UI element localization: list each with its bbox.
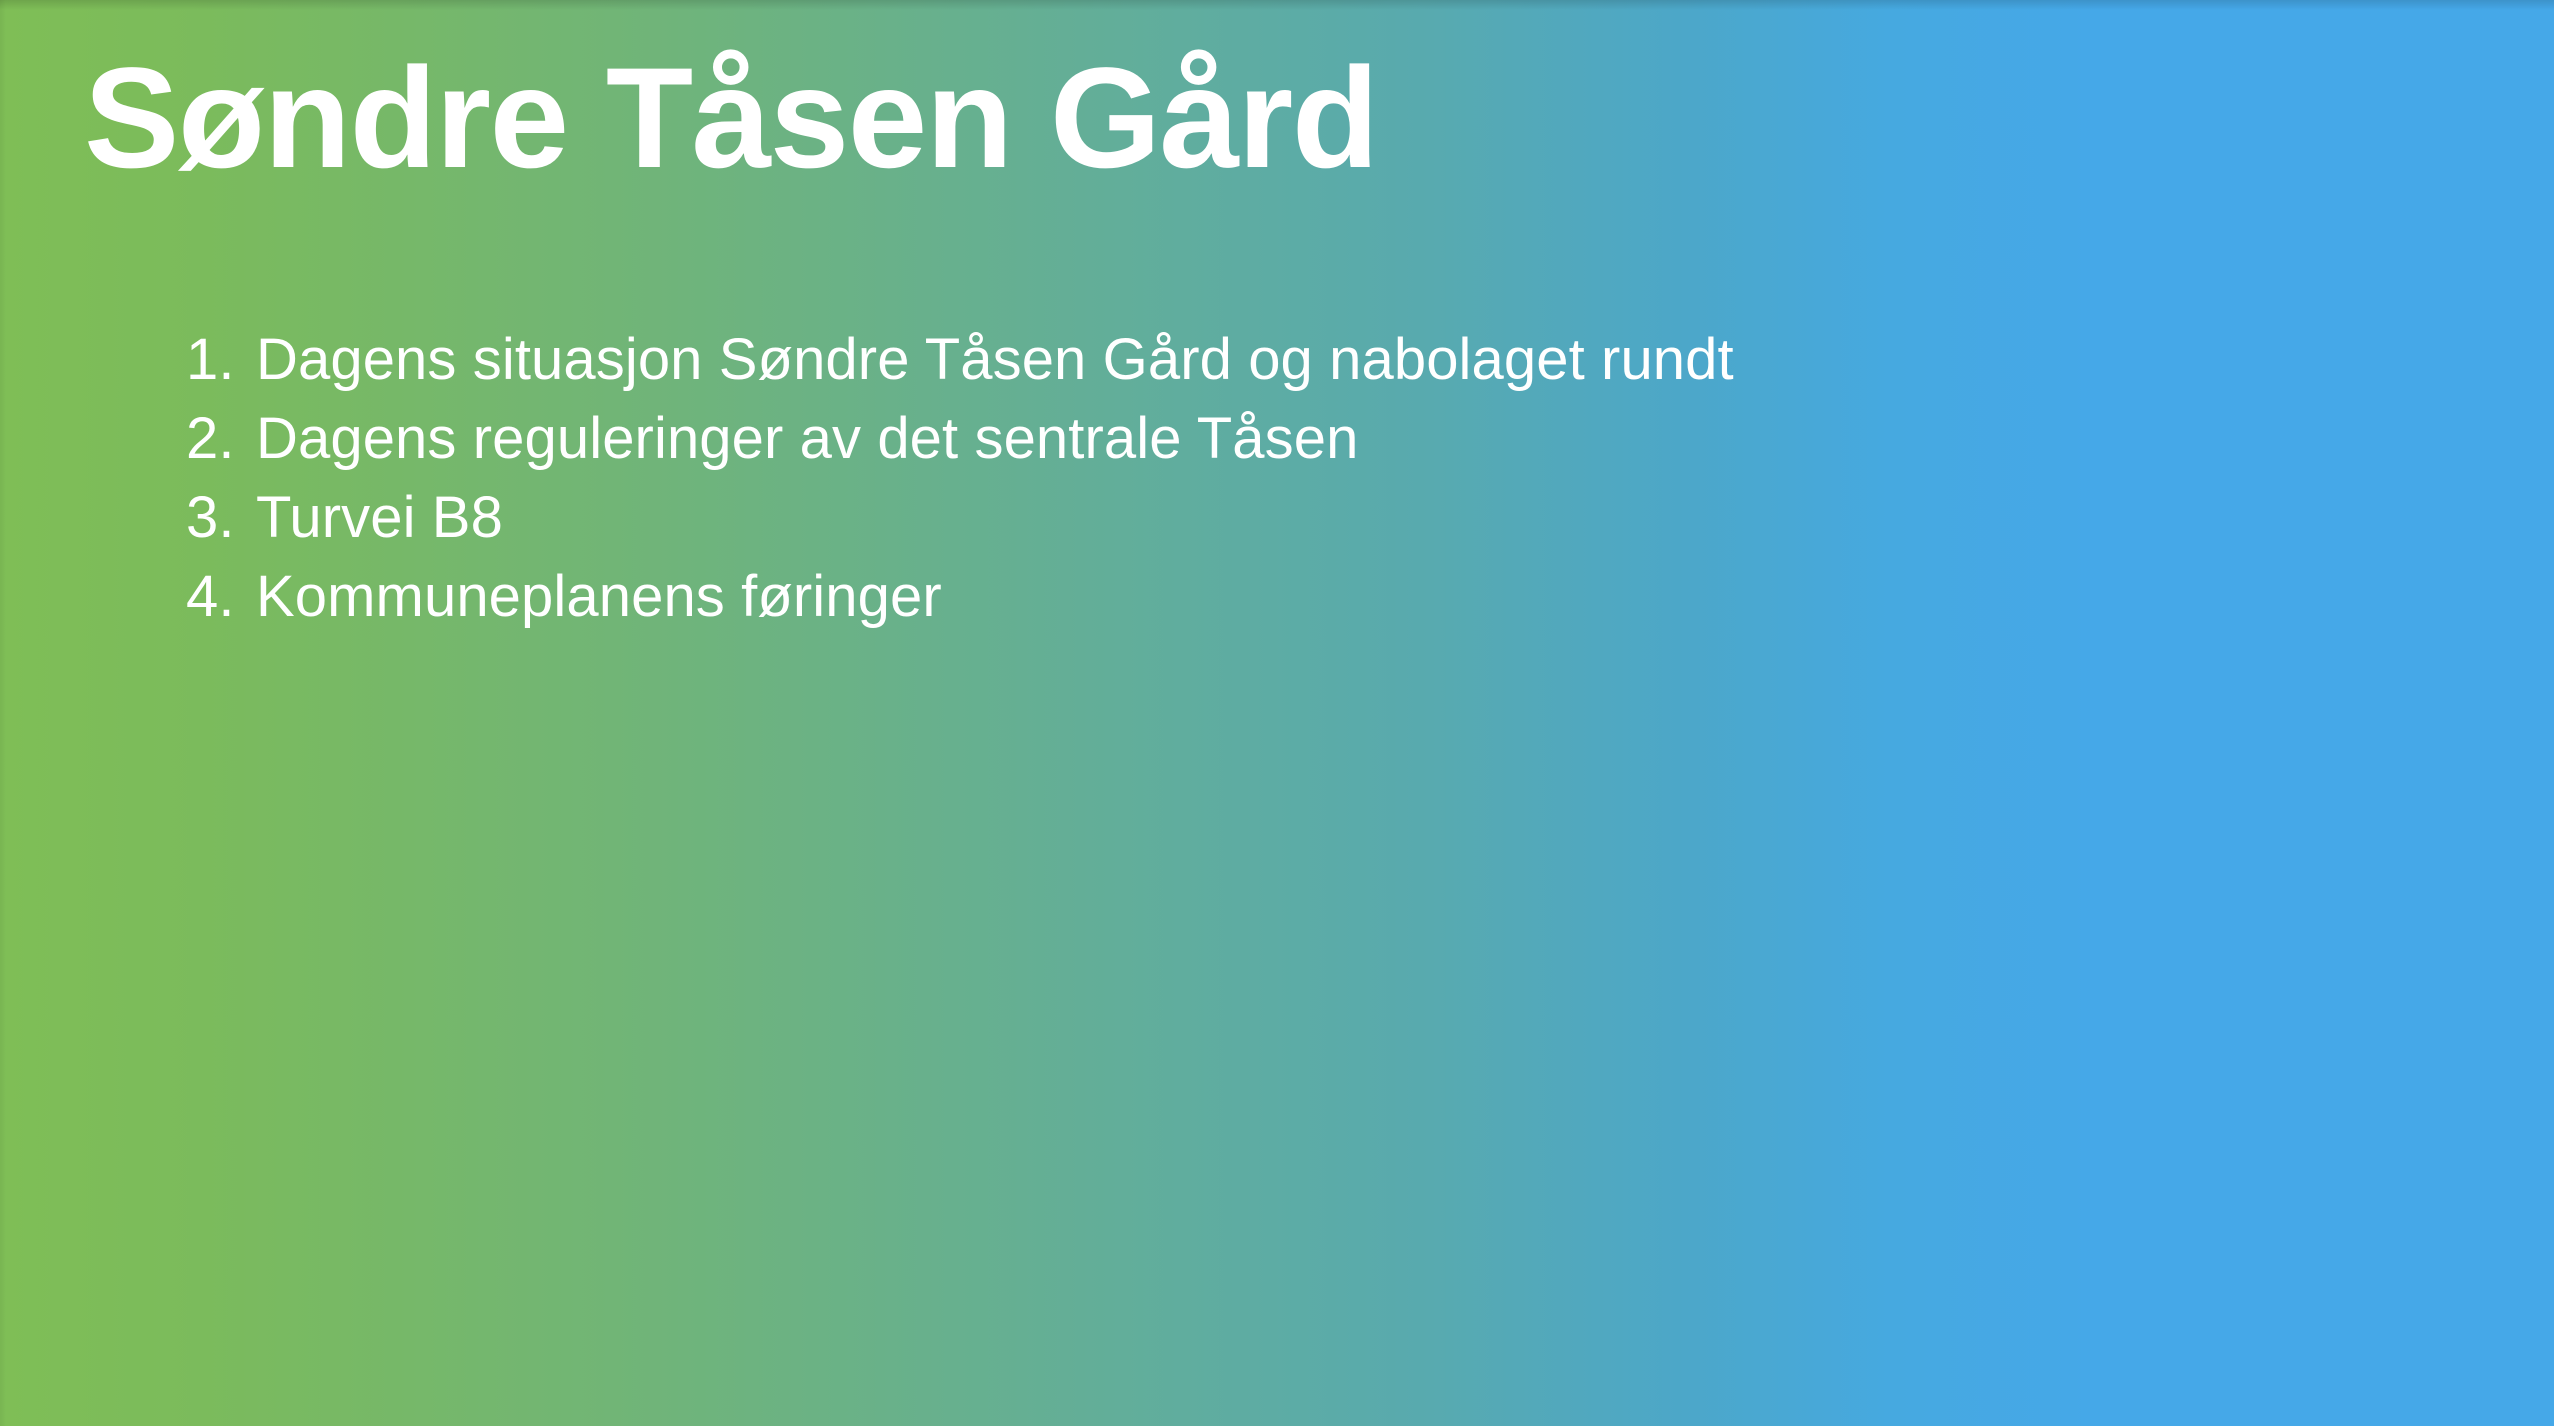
left-edge-shading: [0, 0, 6, 1426]
list-item: 4. Kommuneplanens føringer: [186, 557, 2386, 636]
presentation-slide: Søndre Tåsen Gård 1. Dagens situasjon Sø…: [0, 0, 2554, 1426]
list-item-number: 4.: [186, 557, 256, 636]
list-item-label: Kommuneplanens føringer: [256, 557, 942, 636]
list-item-label: Turvei B8: [256, 478, 503, 557]
list-item-label: Dagens situasjon Søndre Tåsen Gård og na…: [256, 320, 1734, 399]
top-edge-shading: [0, 0, 2554, 10]
list-item-number: 3.: [186, 478, 256, 557]
agenda-list: 1. Dagens situasjon Søndre Tåsen Gård og…: [186, 320, 2386, 636]
list-item: 1. Dagens situasjon Søndre Tåsen Gård og…: [186, 320, 2386, 399]
list-item: 3. Turvei B8: [186, 478, 2386, 557]
list-item: 2. Dagens reguleringer av det sentrale T…: [186, 399, 2386, 478]
list-item-label: Dagens reguleringer av det sentrale Tåse…: [256, 399, 1358, 478]
list-item-number: 2.: [186, 399, 256, 478]
list-item-number: 1.: [186, 320, 256, 399]
page-title: Søndre Tåsen Gård: [84, 30, 1378, 209]
